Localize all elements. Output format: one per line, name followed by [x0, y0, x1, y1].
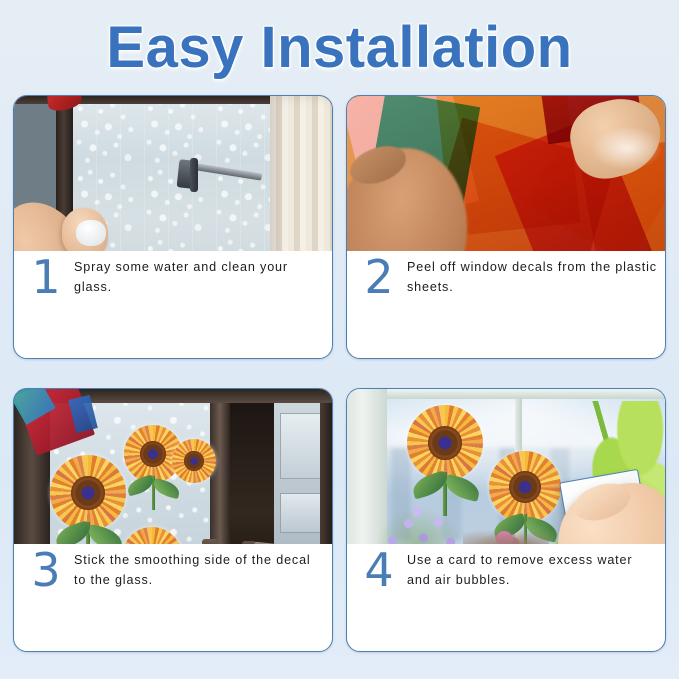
- step-4-text: Use a card to remove excess water and ai…: [407, 551, 659, 590]
- cleaning-cloth: [76, 220, 106, 246]
- sunflower-decal-upper: [407, 405, 483, 481]
- step-4-photo: 4 Use a card to remove excess water and …: [347, 389, 665, 598]
- step-card-3: 3 Stick the smoothing side of the decal …: [13, 388, 333, 652]
- sunflower-decal-left: [50, 455, 126, 531]
- sunflower-decal-lower: [489, 451, 561, 523]
- step-2-number: 2: [357, 254, 401, 300]
- step-4-number: 4: [357, 547, 401, 593]
- step-card-2: 2 Peel off window decals from the plasti…: [346, 95, 666, 359]
- step-card-4: 4 Use a card to remove excess water and …: [346, 388, 666, 652]
- sunflower-center-disc: [184, 451, 203, 470]
- step-1-caption: 1 Spray some water and clean your glass.: [14, 251, 332, 305]
- step-1-number: 1: [24, 254, 68, 300]
- step-card-1: 1 Spray some water and clean your glass.: [13, 95, 333, 359]
- sunflower-center-disc: [428, 426, 461, 459]
- window-frame-top: [347, 389, 665, 399]
- step-3-photo: 3 Stick the smoothing side of the decal …: [14, 389, 332, 598]
- sunflower-center-disc: [71, 476, 104, 509]
- step-3-caption: 3 Stick the smoothing side of the decal …: [14, 544, 332, 598]
- sunflower-center-disc: [509, 471, 541, 503]
- step-2-text: Peel off window decals from the plastic …: [407, 258, 659, 297]
- steps-grid: 1 Spray some water and clean your glass.…: [13, 95, 666, 652]
- sunflower-decal-small: [172, 439, 216, 483]
- step-3-number: 3: [24, 547, 68, 593]
- step-2-caption: 2 Peel off window decals from the plasti…: [347, 251, 665, 305]
- header: Easy Installation: [0, 0, 679, 95]
- step-1-text: Spray some water and clean your glass.: [74, 258, 326, 297]
- step-4-caption: 4 Use a card to remove excess water and …: [347, 544, 665, 598]
- squeegee-grip: [190, 158, 198, 192]
- sunflower-center-disc: [140, 441, 166, 467]
- step-1-photo: 1 Spray some water and clean your glass.: [14, 96, 332, 305]
- step-2-photo: 2 Peel off window decals from the plasti…: [347, 96, 665, 305]
- step-3-text: Stick the smoothing side of the decal to…: [74, 551, 326, 590]
- page-title: Easy Installation: [106, 19, 572, 77]
- plastic-sheen-highlight: [591, 126, 663, 170]
